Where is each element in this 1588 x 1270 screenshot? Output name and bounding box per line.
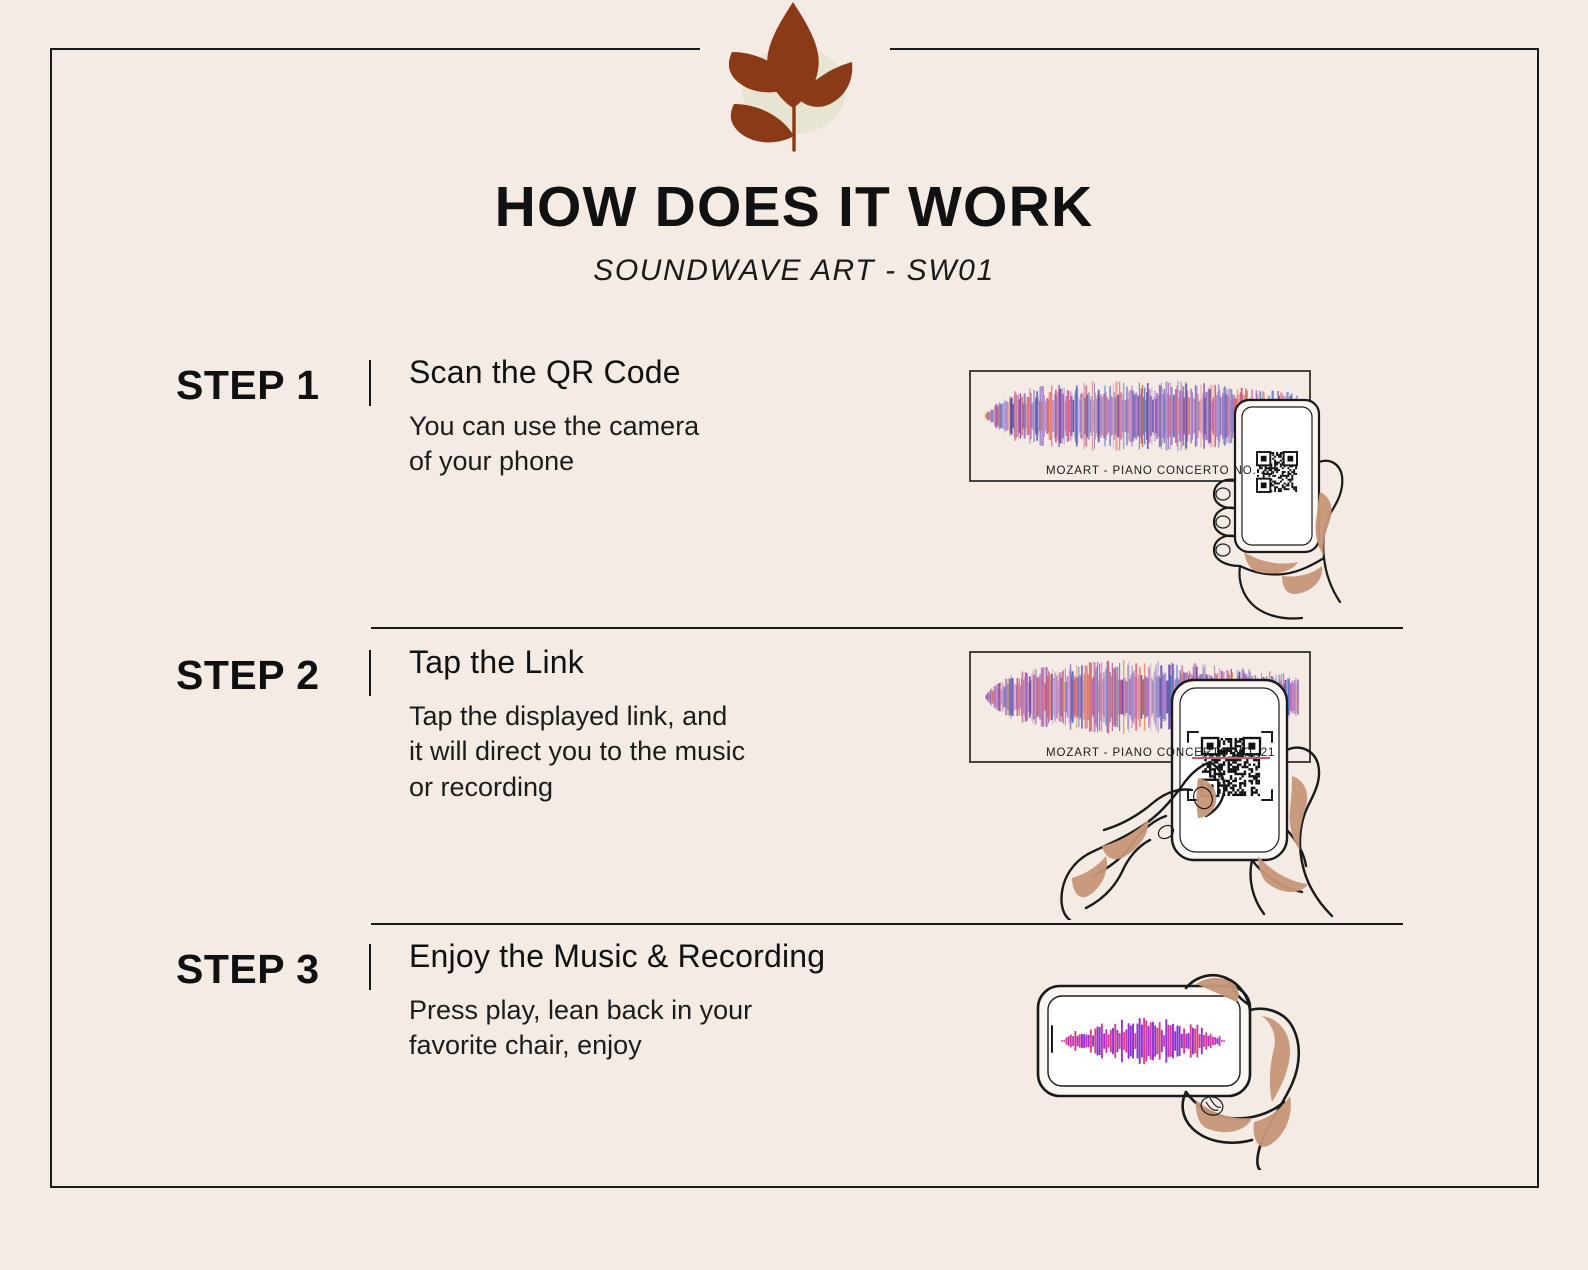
step-3-label: STEP 3: [176, 946, 351, 993]
page-subtitle: SOUNDWAVE ART - SW01: [0, 254, 1588, 288]
step-2-separator: [369, 650, 371, 696]
step-2-label: STEP 2: [176, 652, 351, 699]
step-1-description: You can use the camera of your phone: [409, 409, 949, 480]
step-1-separator: [369, 360, 371, 406]
step-1-body: Scan the QR Code You can use the camera …: [409, 352, 949, 480]
section-divider-1: [371, 627, 1403, 629]
step-3-separator: [369, 944, 371, 990]
art-caption-1: MOZART - PIANO CONCERTO NO. 21: [1046, 465, 1275, 477]
leaf-branch-logo: [706, 0, 878, 158]
header: HOW DOES IT WORK SOUNDWAVE ART - SW01: [0, 178, 1588, 288]
step-3-description: Press play, lean back in your favorite c…: [409, 993, 949, 1064]
illustration-tap-link: [952, 640, 1422, 920]
art-caption-2: MOZART - PIANO CONCERTO NO. 21: [1046, 747, 1275, 759]
illustration-enjoy-music: [1000, 940, 1420, 1170]
step-3-body: Enjoy the Music & Recording Press play, …: [409, 936, 949, 1064]
illustration-scan-qr-code: [952, 352, 1422, 622]
step-2-body: Tap the Link Tap the displayed link, and…: [409, 642, 949, 805]
step-2-description: Tap the displayed link, and it will dire…: [409, 699, 949, 806]
step-1-label: STEP 1: [176, 362, 351, 409]
section-divider-2: [371, 923, 1403, 925]
page-title: HOW DOES IT WORK: [0, 178, 1588, 238]
step-3-heading: Enjoy the Music & Recording: [409, 936, 949, 978]
step-2-heading: Tap the Link: [409, 642, 949, 684]
step-1-heading: Scan the QR Code: [409, 352, 949, 394]
